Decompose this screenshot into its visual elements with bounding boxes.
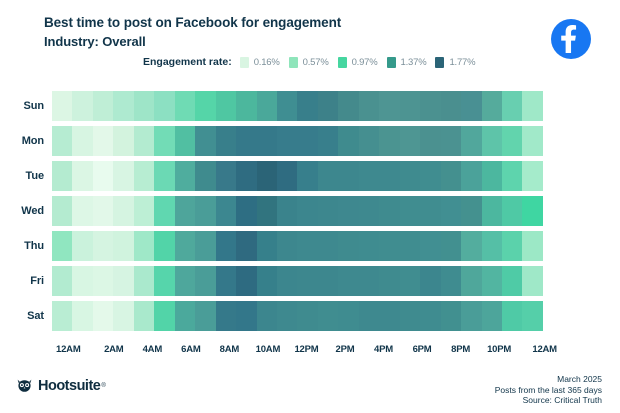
heatmap-cell[interactable]: [236, 231, 256, 261]
heatmap-cell[interactable]: [93, 266, 113, 296]
heatmap-cell[interactable]: [338, 196, 358, 226]
heatmap-cell[interactable]: [154, 91, 174, 121]
heatmap-cell[interactable]: [134, 126, 154, 156]
heatmap-cell[interactable]: [318, 161, 338, 191]
x-tick-label: 12AM: [56, 344, 95, 355]
legend: Engagement rate: 0.16% 0.57% 0.97% 1.37%…: [143, 56, 484, 68]
row-label-mon: Mon: [0, 135, 52, 147]
heatmap-cell[interactable]: [72, 301, 92, 331]
heatmap-cell[interactable]: [502, 196, 522, 226]
heatmap-cell[interactable]: [420, 161, 440, 191]
footer-source: Source: Critical Truth: [495, 395, 602, 406]
heatmap-cell[interactable]: [502, 266, 522, 296]
heatmap-cell[interactable]: [277, 266, 297, 296]
heatmap-cell[interactable]: [359, 231, 379, 261]
legend-label: 0.57%: [303, 57, 329, 68]
heatmap-cell[interactable]: [134, 161, 154, 191]
heatmap-cell[interactable]: [216, 301, 236, 331]
heatmap-cell[interactable]: [52, 196, 72, 226]
heatmap-cell[interactable]: [52, 91, 72, 121]
x-tick-label: 2PM: [326, 344, 365, 355]
heatmap-cell[interactable]: [338, 91, 358, 121]
heatmap-cell[interactable]: [216, 266, 236, 296]
heatmap-cell[interactable]: [379, 266, 399, 296]
heatmap-cell[interactable]: [482, 161, 502, 191]
heatmap-cell[interactable]: [175, 161, 195, 191]
x-tick-label: 4PM: [364, 344, 403, 355]
heatmap-cell[interactable]: [154, 161, 174, 191]
heatmap-cell[interactable]: [522, 231, 542, 261]
heatmap-cell[interactable]: [216, 231, 236, 261]
heatmap-cell[interactable]: [379, 196, 399, 226]
heatmap-cell[interactable]: [522, 161, 542, 191]
heatmap-cell[interactable]: [93, 126, 113, 156]
heatmap-cell[interactable]: [461, 126, 481, 156]
heatmap-cell[interactable]: [400, 196, 420, 226]
heatmap-cell[interactable]: [400, 301, 420, 331]
heatmap-cell[interactable]: [175, 196, 195, 226]
heatmap-cell[interactable]: [441, 231, 461, 261]
legend-swatch-icon: [338, 57, 347, 68]
heatmap-cell[interactable]: [338, 231, 358, 261]
registered-mark: ®: [101, 383, 105, 389]
heatmap-cell[interactable]: [52, 126, 72, 156]
heatmap-cell[interactable]: [461, 266, 481, 296]
heatmap-cell[interactable]: [236, 91, 256, 121]
page-subtitle: Industry: Overall: [44, 33, 514, 50]
heatmap-cell[interactable]: [257, 231, 277, 261]
heatmap-row: Fri: [0, 263, 620, 298]
heatmap-cell[interactable]: [195, 161, 215, 191]
heatmap-cell[interactable]: [297, 91, 317, 121]
legend-title: Engagement rate:: [143, 56, 232, 68]
heatmap-cell[interactable]: [257, 161, 277, 191]
heatmap-cell[interactable]: [52, 231, 72, 261]
heatmap-cell[interactable]: [420, 301, 440, 331]
heatmap-cell[interactable]: [195, 231, 215, 261]
row-label-sat: Sat: [0, 310, 52, 322]
heatmap-cell[interactable]: [522, 196, 542, 226]
footer-meta: March 2025 Posts from the last 365 days …: [495, 374, 602, 406]
heatmap-cell[interactable]: [154, 126, 174, 156]
heatmap-cell[interactable]: [134, 231, 154, 261]
heatmap-cell[interactable]: [359, 161, 379, 191]
heatmap-cell[interactable]: [93, 231, 113, 261]
legend-swatch-icon: [387, 57, 396, 68]
heatmap-cell[interactable]: [195, 196, 215, 226]
heatmap-cell[interactable]: [72, 231, 92, 261]
heatmap-cell[interactable]: [195, 91, 215, 121]
heatmap-cell[interactable]: [522, 126, 542, 156]
heatmap-cell[interactable]: [318, 266, 338, 296]
heatmap-cell[interactable]: [482, 301, 502, 331]
legend-item-3: 1.37%: [387, 57, 427, 68]
heatmap-cell[interactable]: [338, 301, 358, 331]
heatmap-cell[interactable]: [134, 301, 154, 331]
heatmap-cell[interactable]: [482, 231, 502, 261]
legend-item-2: 0.97%: [338, 57, 378, 68]
heatmap-cell[interactable]: [236, 266, 256, 296]
heatmap-cell[interactable]: [236, 161, 256, 191]
heatmap-cell[interactable]: [257, 196, 277, 226]
heatmap-cell[interactable]: [297, 231, 317, 261]
x-tick-label: 8AM: [210, 344, 249, 355]
heatmap-cell[interactable]: [400, 161, 420, 191]
heatmap-cell[interactable]: [216, 126, 236, 156]
heatmap-cell[interactable]: [522, 301, 542, 331]
hootsuite-wordmark: Hootsuite: [38, 378, 100, 394]
heatmap-cell[interactable]: [420, 91, 440, 121]
row-label-tue: Tue: [0, 170, 52, 182]
heatmap-cell[interactable]: [72, 161, 92, 191]
heatmap-cell[interactable]: [113, 126, 133, 156]
heatmap-cell[interactable]: [52, 301, 72, 331]
heatmap-cell[interactable]: [441, 196, 461, 226]
heatmap-cell[interactable]: [482, 196, 502, 226]
heatmap-row: Sun: [0, 88, 620, 123]
heatmap-cell[interactable]: [175, 231, 195, 261]
heatmap-cell[interactable]: [113, 301, 133, 331]
heatmap-cell[interactable]: [522, 91, 542, 121]
heatmap-cell[interactable]: [113, 161, 133, 191]
heatmap-cell[interactable]: [318, 301, 338, 331]
heatmap-cell[interactable]: [502, 126, 522, 156]
heatmap-cell[interactable]: [72, 126, 92, 156]
heatmap-cell[interactable]: [461, 301, 481, 331]
heatmap-cell[interactable]: [359, 196, 379, 226]
heatmap-cell[interactable]: [134, 91, 154, 121]
heatmap-cell[interactable]: [216, 161, 236, 191]
x-tick-label: 10PM: [480, 344, 519, 355]
legend-label: 0.97%: [352, 57, 378, 68]
heatmap-cell[interactable]: [277, 231, 297, 261]
heatmap-cell[interactable]: [522, 266, 542, 296]
heatmap-cell[interactable]: [400, 231, 420, 261]
heatmap-row-cells: [52, 196, 543, 226]
heatmap-cell[interactable]: [461, 196, 481, 226]
heatmap-cell[interactable]: [461, 231, 481, 261]
heatmap-cell[interactable]: [236, 126, 256, 156]
legend-label: 0.16%: [254, 57, 280, 68]
heatmap-cell[interactable]: [277, 301, 297, 331]
row-label-thu: Thu: [0, 240, 52, 252]
heatmap-cell[interactable]: [420, 231, 440, 261]
heatmap-cell[interactable]: [297, 266, 317, 296]
heatmap-cell[interactable]: [420, 266, 440, 296]
heatmap-cell[interactable]: [359, 301, 379, 331]
heatmap-infographic: Best time to post on Facebook for engage…: [0, 0, 620, 413]
heatmap-cell[interactable]: [195, 266, 215, 296]
heatmap-cell[interactable]: [461, 161, 481, 191]
heatmap-cell[interactable]: [72, 196, 92, 226]
heatmap-cell[interactable]: [134, 266, 154, 296]
heatmap-cell[interactable]: [297, 301, 317, 331]
x-axis: 12AM2AM4AM6AM8AM10AM12PM2PM4PM6PM8PM10PM…: [60, 344, 551, 355]
legend-swatch-icon: [289, 57, 298, 68]
heatmap-cell[interactable]: [175, 266, 195, 296]
heatmap-cell[interactable]: [502, 231, 522, 261]
heatmap-cell[interactable]: [175, 91, 195, 121]
heatmap-cell[interactable]: [441, 126, 461, 156]
heatmap-cell[interactable]: [195, 301, 215, 331]
heatmap-cell[interactable]: [236, 196, 256, 226]
legend-item-1: 0.57%: [289, 57, 329, 68]
heatmap-cell[interactable]: [257, 301, 277, 331]
heatmap-cell[interactable]: [461, 91, 481, 121]
heatmap-cell[interactable]: [482, 91, 502, 121]
heatmap-row-cells: [52, 266, 543, 296]
heatmap-cell[interactable]: [113, 266, 133, 296]
heatmap-cell[interactable]: [277, 196, 297, 226]
heatmap-cell[interactable]: [482, 266, 502, 296]
heatmap-cell[interactable]: [420, 126, 440, 156]
heatmap-cell[interactable]: [441, 161, 461, 191]
page-title: Best time to post on Facebook for engage…: [44, 14, 514, 31]
heatmap-cell[interactable]: [72, 91, 92, 121]
legend-label: 1.77%: [449, 57, 475, 68]
heatmap-cell[interactable]: [175, 126, 195, 156]
heatmap-cell[interactable]: [379, 91, 399, 121]
heatmap-cell[interactable]: [113, 91, 133, 121]
heatmap-cell[interactable]: [134, 196, 154, 226]
heatmap-cell[interactable]: [257, 126, 277, 156]
heatmap-cell[interactable]: [297, 196, 317, 226]
heatmap-cell[interactable]: [93, 91, 113, 121]
heatmap-cell[interactable]: [502, 161, 522, 191]
x-tick-label: 6PM: [403, 344, 442, 355]
heatmap-cell[interactable]: [154, 266, 174, 296]
heatmap-cell[interactable]: [318, 126, 338, 156]
row-label-wed: Wed: [0, 205, 52, 217]
heatmap-cell[interactable]: [113, 231, 133, 261]
heatmap-cell[interactable]: [277, 91, 297, 121]
heatmap-cell[interactable]: [216, 91, 236, 121]
x-tick-label: 12PM: [287, 344, 326, 355]
heatmap-row-cells: [52, 161, 543, 191]
heatmap-cell[interactable]: [52, 161, 72, 191]
heatmap-cell[interactable]: [277, 161, 297, 191]
heatmap-cell[interactable]: [338, 266, 358, 296]
heatmap-cell[interactable]: [482, 126, 502, 156]
facebook-icon: [550, 18, 592, 60]
heatmap-cell[interactable]: [154, 196, 174, 226]
heatmap-row-cells: [52, 231, 543, 261]
heatmap-cell[interactable]: [52, 266, 72, 296]
heatmap-row: Thu: [0, 228, 620, 263]
x-tick-label: 6AM: [172, 344, 211, 355]
heatmap-cell[interactable]: [93, 161, 113, 191]
legend-label: 1.37%: [401, 57, 427, 68]
footer-date: March 2025: [495, 374, 602, 385]
heatmap-row-cells: [52, 301, 543, 331]
legend-item-4: 1.77%: [435, 57, 475, 68]
x-tick-label: 12AM: [518, 344, 557, 355]
legend-item-0: 0.16%: [240, 57, 280, 68]
heatmap-cell[interactable]: [154, 231, 174, 261]
heatmap-row: Tue: [0, 158, 620, 193]
heatmap-cell[interactable]: [195, 126, 215, 156]
hootsuite-logo: Hootsuite ®: [16, 378, 106, 394]
heatmap-cell[interactable]: [359, 266, 379, 296]
header: Best time to post on Facebook for engage…: [44, 14, 514, 50]
heatmap-cell[interactable]: [502, 301, 522, 331]
heatmap-cell[interactable]: [400, 91, 420, 121]
heatmap-cell[interactable]: [338, 126, 358, 156]
heatmap-cell[interactable]: [502, 91, 522, 121]
heatmap-cell[interactable]: [175, 301, 195, 331]
heatmap-cell[interactable]: [379, 161, 399, 191]
heatmap-cell[interactable]: [216, 196, 236, 226]
heatmap-cell[interactable]: [257, 91, 277, 121]
heatmap-cell[interactable]: [359, 91, 379, 121]
heatmap-cell[interactable]: [379, 126, 399, 156]
x-tick-label: 2AM: [95, 344, 134, 355]
legend-swatch-icon: [435, 57, 444, 68]
heatmap-cell[interactable]: [400, 126, 420, 156]
row-label-fri: Fri: [0, 275, 52, 287]
heatmap-cell[interactable]: [257, 266, 277, 296]
heatmap-cell[interactable]: [379, 231, 399, 261]
heatmap-cell[interactable]: [441, 301, 461, 331]
heatmap-row: Mon: [0, 123, 620, 158]
heatmap-cell[interactable]: [236, 301, 256, 331]
heatmap-cell[interactable]: [297, 126, 317, 156]
heatmap-row-cells: [52, 126, 543, 156]
heatmap-row-cells: [52, 91, 543, 121]
heatmap-cell[interactable]: [72, 266, 92, 296]
heatmap-cell[interactable]: [420, 196, 440, 226]
row-label-sun: Sun: [0, 100, 52, 112]
x-tick-label: 8PM: [441, 344, 480, 355]
heatmap-cell[interactable]: [318, 91, 338, 121]
x-tick-label: 4AM: [133, 344, 172, 355]
owl-icon: [16, 379, 33, 394]
heatmap-grid: SunMonTueWedThuFriSat: [0, 88, 620, 340]
heatmap-cell[interactable]: [379, 301, 399, 331]
heatmap-cell[interactable]: [297, 161, 317, 191]
heatmap-cell[interactable]: [93, 196, 113, 226]
heatmap-cell[interactable]: [318, 196, 338, 226]
heatmap-cell[interactable]: [441, 91, 461, 121]
heatmap-row: Sat: [0, 298, 620, 333]
heatmap-cell[interactable]: [113, 196, 133, 226]
heatmap-cell[interactable]: [359, 126, 379, 156]
heatmap-cell[interactable]: [154, 301, 174, 331]
heatmap-cell[interactable]: [400, 266, 420, 296]
heatmap-row: Wed: [0, 193, 620, 228]
heatmap-cell[interactable]: [277, 126, 297, 156]
heatmap-cell[interactable]: [338, 161, 358, 191]
legend-swatch-icon: [240, 57, 249, 68]
heatmap-cell[interactable]: [93, 301, 113, 331]
x-tick-label: 10AM: [249, 344, 288, 355]
heatmap-cell[interactable]: [318, 231, 338, 261]
footer-window: Posts from the last 365 days: [495, 385, 602, 396]
heatmap-cell[interactable]: [441, 266, 461, 296]
